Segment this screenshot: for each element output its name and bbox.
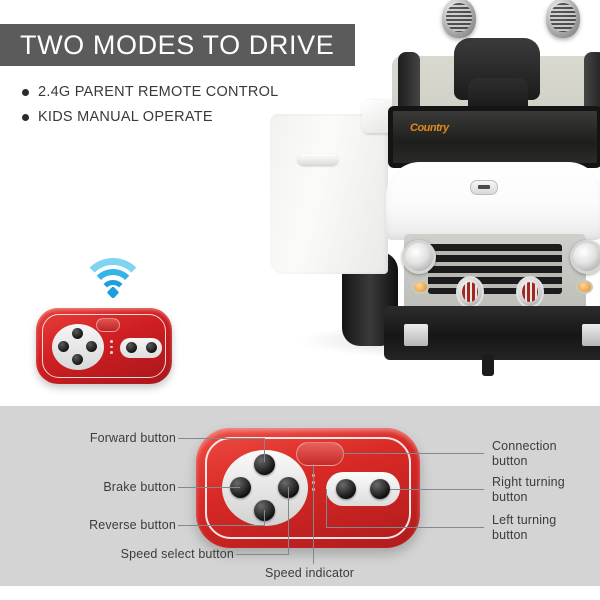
vehicle-foglight-left [456,276,484,308]
vehicle-headlight-right [570,240,600,274]
label-left-turning-button-line1: Left turning [492,513,598,528]
right-turning-button [146,342,157,353]
list-item: 2.4G PARENT REMOTE CONTROL [22,84,352,100]
leader-line-brake [178,487,240,488]
leader-line-right-turning [390,489,484,490]
remote-control-small [36,308,172,384]
vehicle-speaker-right [546,0,580,38]
vehicle-speaker-left [442,0,476,38]
label-connection-button: Connection button [492,439,598,469]
remote-with-wifi-group [34,256,194,392]
label-speed-select-button: Speed select button [50,547,234,562]
leader-line-forward [178,438,264,439]
leader-line-speed-indicator [313,464,314,564]
page-title: TWO MODES TO DRIVE [0,30,334,61]
vehicle-turn-signal-left [412,280,429,294]
vehicle-door-handle [298,154,338,165]
leader-line-speed-select [236,554,288,555]
speed-select-button [86,341,97,352]
vehicle-windshield [388,106,600,168]
connection-button [296,442,344,466]
vehicle-door-panel [270,114,388,274]
forward-button [72,328,83,339]
vehicle-bumper-plate-left [404,324,428,346]
leader-line-left-turning [326,527,484,528]
label-right-turning-button: Right turning button [492,475,598,505]
label-left-turning-button-line2: button [492,528,598,543]
remote-diagram-panel: Forward button Brake button Reverse butt… [0,406,600,586]
left-turning-button [336,479,356,499]
vehicle-brand-decal: Country [410,122,449,134]
label-left-turning-button: Left turning button [492,513,598,543]
leader-line-speed-select-vertical [288,487,289,555]
vehicle-badge [470,180,498,195]
vehicle-hood [386,162,600,240]
vehicle-turn-signal-right [576,280,593,294]
top-section: Country TWO MODES TO DRIVE 2.4G PARENT R… [0,0,600,406]
vehicle-bumper-plate-right [582,324,600,346]
leader-line-left-turning-vertical [326,489,327,527]
bullet-dot-icon [22,89,29,96]
right-turning-button [370,479,390,499]
bullet-label: KIDS MANUAL OPERATE [38,109,213,125]
speed-indicator-led [110,340,113,343]
feature-bullet-list: 2.4G PARENT REMOTE CONTROL KIDS MANUAL O… [22,84,352,134]
label-speed-indicator: Speed indicator [265,566,375,581]
label-brake-button: Brake button [18,480,176,495]
leader-line-connection [342,453,484,454]
left-turning-button [126,342,137,353]
speed-indicator [110,340,113,357]
connection-button [96,318,120,332]
label-right-turning-button-line2: button [492,490,598,505]
leader-line-reverse [178,525,264,526]
vehicle-tow-hook [482,354,494,376]
label-reverse-button: Reverse button [18,518,176,533]
label-connection-button-line1: Connection [492,439,598,454]
brake-button [58,341,69,352]
bullet-dot-icon [22,114,29,121]
bullet-label: 2.4G PARENT REMOTE CONTROL [38,84,278,100]
leader-line-reverse-vertical [264,510,265,526]
vehicle-foglight-right [516,276,544,308]
title-banner: TWO MODES TO DRIVE [0,24,355,66]
leader-line-forward-vertical [264,438,265,462]
label-forward-button: Forward button [18,431,176,446]
wifi-icon [84,256,142,302]
speed-indicator-led [110,351,113,354]
label-right-turning-button-line1: Right turning [492,475,598,490]
speed-indicator-led [110,346,113,349]
vehicle-headlight-left [402,240,436,274]
list-item: KIDS MANUAL OPERATE [22,109,352,125]
label-connection-button-line2: button [492,454,598,469]
reverse-button [72,354,83,365]
